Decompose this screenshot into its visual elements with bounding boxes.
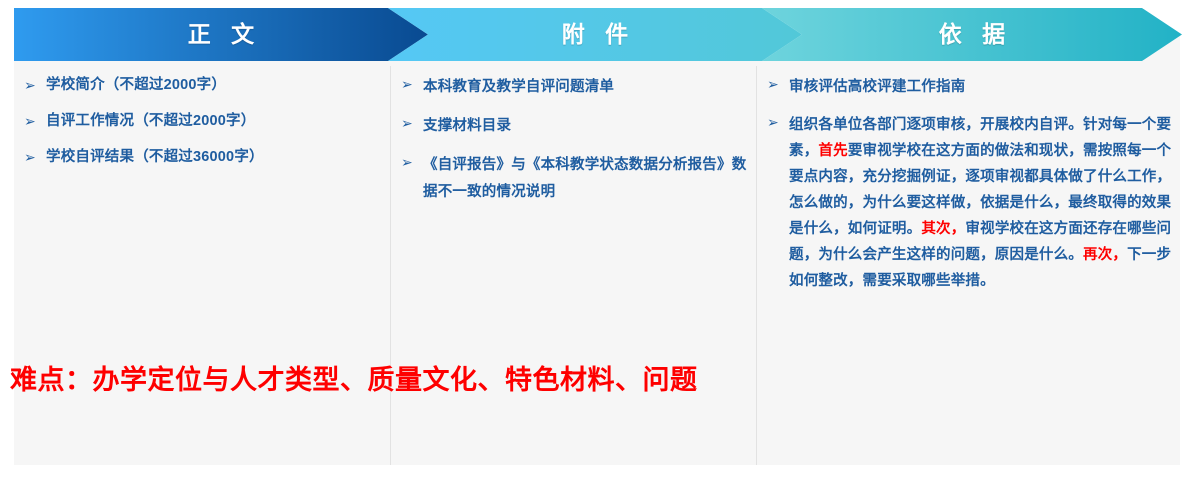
arrow-bullet-icon: ➢ <box>20 74 46 96</box>
list-item-label: 自评工作情况（不超过2000字） <box>46 110 384 133</box>
list-item[interactable]: ➢ 支撑材料目录 <box>397 113 750 140</box>
arrow-bullet-icon: ➢ <box>763 112 789 133</box>
list-item[interactable]: ➢ 本科教育及教学自评问题清单 <box>397 74 750 101</box>
slide-canvas: 正 文 附 件 依 据 ➢ 学校简介（不超过2000字） ➢ 自评工作情况（不超… <box>0 0 1194 477</box>
list-item-label: 支撑材料目录 <box>423 113 750 140</box>
arrow-bullet-icon: ➢ <box>397 152 423 173</box>
emphasis-text: 首先 <box>818 143 847 159</box>
columns-container: ➢ 学校简介（不超过2000字） ➢ 自评工作情况（不超过2000字） ➢ 学校… <box>14 66 1180 465</box>
banner-label: 附 件 <box>555 23 635 46</box>
column-yiju: ➢ 审核评估高校评建工作指南 ➢ 组织各单位各部门逐项审核，开展校内自评。针对每… <box>756 66 1180 465</box>
arrow-bullet-icon: ➢ <box>763 74 789 95</box>
list-item-label: 审核评估高校评建工作指南 <box>789 74 1174 100</box>
banner-label: 依 据 <box>932 23 1012 46</box>
column-zhengwen: ➢ 学校简介（不超过2000字） ➢ 自评工作情况（不超过2000字） ➢ 学校… <box>14 66 390 465</box>
emphasis-text: 再次， <box>1083 247 1127 263</box>
list-item[interactable]: ➢ 组织各单位各部门逐项审核，开展校内自评。针对每一个要素，首先要审视学校在这方… <box>763 112 1174 294</box>
list-item-rich-label: 组织各单位各部门逐项审核，开展校内自评。针对每一个要素，首先要审视学校在这方面的… <box>789 112 1174 294</box>
banner-fujian[interactable]: 附 件 <box>388 8 802 61</box>
column-fujian: ➢ 本科教育及教学自评问题清单 ➢ 支撑材料目录 ➢ 《自评报告》与《本科教学状… <box>390 66 756 465</box>
banner-zhengwen[interactable]: 正 文 <box>14 8 428 61</box>
list-item[interactable]: ➢ 学校简介（不超过2000字） <box>20 74 384 97</box>
list-item-label: 学校简介（不超过2000字） <box>46 74 384 97</box>
list-item[interactable]: ➢ 审核评估高校评建工作指南 <box>763 74 1174 100</box>
list-item-label: 本科教育及教学自评问题清单 <box>423 74 750 101</box>
difficulty-headline: 难点：办学定位与人才类型、质量文化、特色材料、问题 <box>10 363 750 397</box>
list-item[interactable]: ➢ 学校自评结果（不超过36000字） <box>20 146 384 169</box>
arrow-bullet-icon: ➢ <box>20 146 46 168</box>
banner-yiju[interactable]: 依 据 <box>762 8 1182 61</box>
arrow-bullet-icon: ➢ <box>20 110 46 132</box>
arrow-bullet-icon: ➢ <box>397 74 423 95</box>
list-item-label: 《自评报告》与《本科教学状态数据分析报告》数据不一致的情况说明 <box>423 152 750 206</box>
list-item[interactable]: ➢ 《自评报告》与《本科教学状态数据分析报告》数据不一致的情况说明 <box>397 152 750 206</box>
arrow-bullet-icon: ➢ <box>397 113 423 134</box>
list-item-label: 学校自评结果（不超过36000字） <box>46 146 384 169</box>
banner-row: 正 文 附 件 依 据 <box>0 8 1194 61</box>
banner-label: 正 文 <box>181 23 261 46</box>
emphasis-text: 其次， <box>921 221 965 237</box>
list-item[interactable]: ➢ 自评工作情况（不超过2000字） <box>20 110 384 133</box>
